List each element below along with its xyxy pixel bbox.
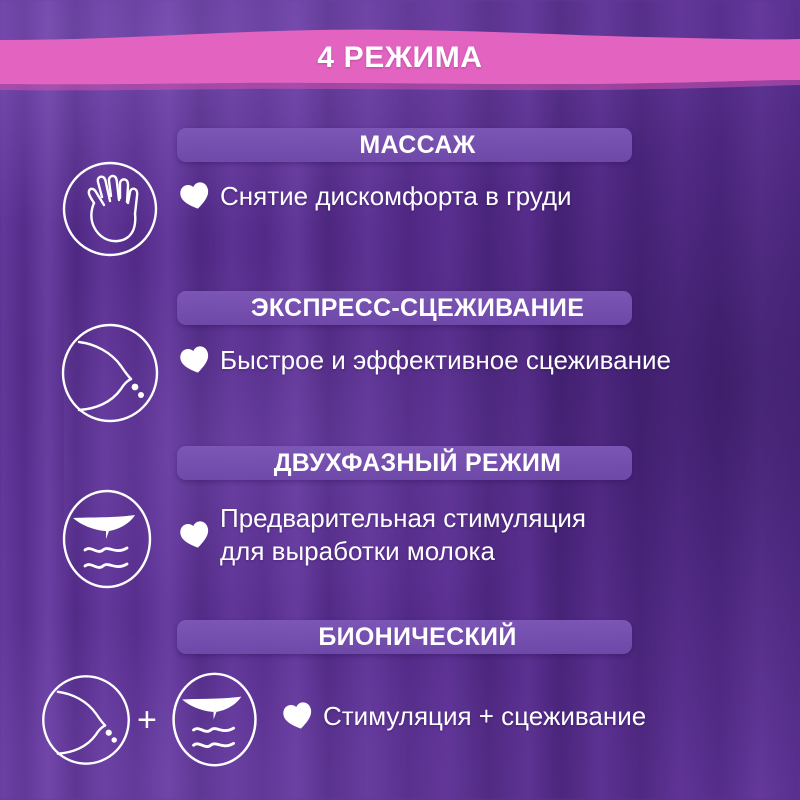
mode-description: Быстрое и эффективное сцеживание [220, 344, 671, 377]
mode-badge-express[interactable]: ЭКСПРЕСС-СЦЕЖИВАНИЕ [177, 291, 632, 325]
mode-badge-label: ЭКСПРЕСС-СЦЕЖИВАНИЕ [177, 291, 632, 325]
promo-slide: 4 РЕЖИМА МАССАЖ [0, 0, 800, 800]
mode-description: Снятие дискомфорта в груди [220, 180, 572, 213]
icon-separator-plus: + [137, 703, 157, 737]
heart-bullet-icon [180, 521, 210, 549]
header-band: 4 РЕЖИМА [0, 0, 800, 110]
mode-description-row-express: Быстрое и эффективное сцеживание [180, 340, 671, 380]
mode-description: Предварительная стимуляция для выработки… [220, 502, 586, 568]
funnel-waves-icon [55, 487, 160, 592]
mode-badge-two-phase[interactable]: ДВУХФАЗНЫЙ РЕЖИМ [177, 446, 632, 480]
heart-bullet-icon [180, 182, 210, 210]
mode-description: Стимуляция + сцеживание [323, 700, 646, 733]
mode-badge-label: ДВУХФАЗНЫЙ РЕЖИМ [177, 446, 632, 480]
breast-drops-icon [55, 318, 165, 428]
mode-badge-massage[interactable]: МАССАЖ [177, 128, 632, 162]
mode-description-row-bionic: Стимуляция + сцеживание [283, 696, 646, 736]
mode-description-row-two-phase: Предварительная стимуляция для выработки… [180, 500, 586, 570]
breast-drops-icon [36, 670, 136, 770]
mode-badge-label: БИОНИЧЕСКИЙ [177, 620, 632, 654]
mode-badge-bionic[interactable]: БИОНИЧЕСКИЙ [177, 620, 632, 654]
slide-title: 4 РЕЖИМА [0, 41, 800, 75]
funnel-waves-icon [165, 670, 265, 770]
mode-badge-label: МАССАЖ [177, 128, 632, 162]
heart-bullet-icon [283, 702, 313, 730]
heart-bullet-icon [180, 346, 210, 374]
hand-icon [58, 157, 162, 261]
mode-description-row-massage: Снятие дискомфорта в груди [180, 176, 572, 216]
